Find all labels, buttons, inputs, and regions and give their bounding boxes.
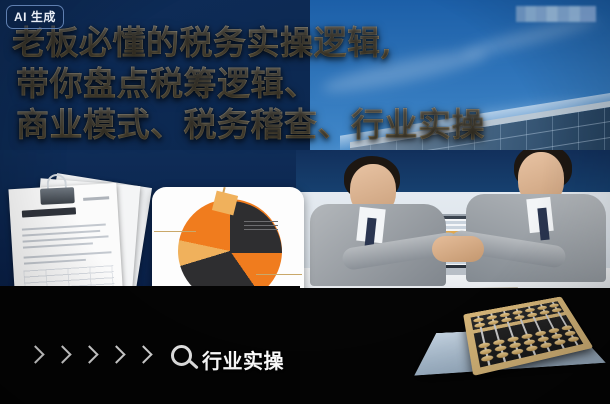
ai-generated-badge: AI 生成	[6, 5, 64, 29]
title-line-3: 商业模式、税务稽查、行业实操	[16, 104, 598, 145]
pie-leader-line	[256, 274, 302, 275]
search-tag-label: 行业实操	[202, 345, 284, 374]
paper-header-mark	[83, 196, 109, 201]
redacted-watermark	[516, 6, 596, 22]
title-line-2: 带你盘点税筹逻辑、	[16, 63, 598, 104]
chevron-right-icon	[109, 346, 123, 368]
handshake-photo	[296, 150, 610, 306]
magnifier-icon	[170, 344, 200, 374]
chevron-right-icon	[136, 346, 150, 368]
poster-title: 老板必懂的税务实操逻辑, 带你盘点税筹逻辑、 商业模式、税务稽查、行业实操	[12, 22, 598, 145]
chevron-group	[28, 346, 150, 368]
paper-title-bar	[22, 207, 76, 217]
pie-slice-note-text	[244, 221, 278, 231]
chevron-right-icon	[28, 346, 42, 368]
title-line-1: 老板必懂的税务实操逻辑,	[12, 22, 598, 63]
chevron-right-icon	[82, 346, 96, 368]
binder-clip-icon	[39, 173, 75, 205]
poster-canvas: 行业实操 老板必懂的税务实操逻辑, 带你盘点税筹逻辑、 商业模式、税务稽查、行业…	[0, 0, 610, 404]
handshake-hands	[432, 236, 484, 262]
search-tag-group: 行业实操	[170, 344, 284, 374]
chevron-right-icon	[55, 346, 69, 368]
pie-leader-line	[154, 231, 196, 232]
